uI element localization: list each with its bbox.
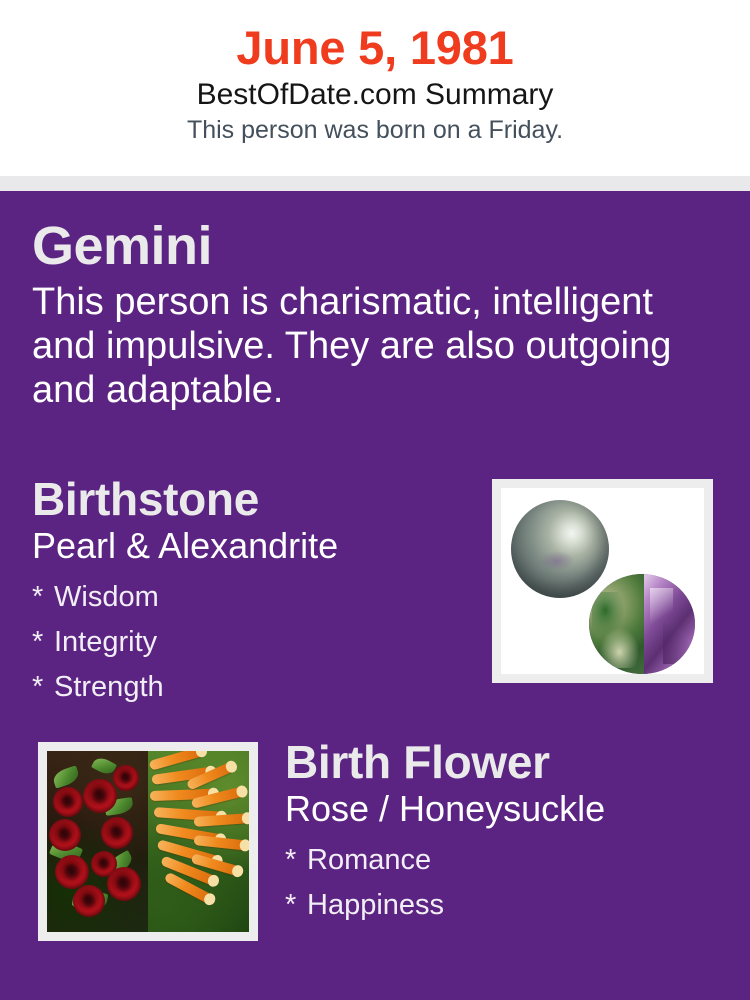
alexandrite-green-half (589, 574, 644, 674)
birth-flower-section: Birth Flower Rose / Honeysuckle *Romance… (285, 739, 725, 928)
alexandrite-gem-icon (589, 574, 695, 674)
bullet-asterisk-icon: * (285, 883, 307, 928)
bullet-asterisk-icon: * (32, 620, 54, 665)
honeysuckle-bloom-icon (193, 835, 248, 851)
list-item: *Strength (32, 665, 472, 710)
birth-weekday-note: This person was born on a Friday. (0, 112, 750, 145)
birth-flower-heading: Birth Flower (285, 739, 725, 787)
details-panel: Gemini This person is charismatic, intel… (0, 191, 750, 1000)
alexandrite-purple-half (644, 574, 695, 674)
summary-card: June 5, 1981 BestOfDate.com Summary This… (0, 0, 750, 1000)
rose-icon (83, 779, 117, 813)
rose-icon (49, 819, 81, 851)
birthstone-image (501, 488, 704, 674)
zodiac-sign-name: Gemini (32, 218, 712, 274)
list-item: *Romance (285, 838, 725, 883)
roses-photo-half (47, 751, 148, 932)
trait-label: Integrity (54, 626, 157, 658)
trait-label: Romance (307, 844, 431, 876)
rose-icon (53, 787, 83, 817)
birth-flower-value: Rose / Honeysuckle (285, 787, 725, 829)
trait-label: Wisdom (54, 581, 159, 613)
birthstone-section: Birthstone Pearl & Alexandrite *Wisdom *… (32, 476, 472, 710)
birthstone-value: Pearl & Alexandrite (32, 524, 472, 566)
header-divider (0, 176, 750, 191)
rose-icon (73, 885, 105, 917)
page-title: June 5, 1981 (0, 0, 750, 73)
bullet-asterisk-icon: * (32, 575, 54, 620)
rose-icon (101, 817, 133, 849)
list-item: *Wisdom (32, 575, 472, 620)
rose-icon (113, 765, 139, 791)
birth-flower-image-frame (38, 742, 258, 941)
honeysuckle-photo-half (148, 751, 249, 932)
list-item: *Integrity (32, 620, 472, 665)
bullet-asterisk-icon: * (285, 838, 307, 883)
site-summary-label: BestOfDate.com Summary (0, 73, 750, 112)
trait-label: Happiness (307, 889, 444, 921)
trait-label: Strength (54, 671, 164, 703)
zodiac-description: This person is charismatic, intelligent … (32, 274, 712, 412)
birthstone-image-frame (492, 479, 713, 683)
leaf-icon (51, 765, 81, 788)
birthstone-heading: Birthstone (32, 476, 472, 524)
birth-flower-image (47, 751, 249, 932)
rose-icon (107, 867, 141, 901)
rose-icon (55, 855, 89, 889)
birth-flower-trait-list: *Romance *Happiness (285, 828, 725, 928)
list-item: *Happiness (285, 883, 725, 928)
zodiac-section: Gemini This person is charismatic, intel… (32, 218, 712, 412)
birthstone-trait-list: *Wisdom *Integrity *Strength (32, 565, 472, 710)
card-header: June 5, 1981 BestOfDate.com Summary This… (0, 0, 750, 176)
bullet-asterisk-icon: * (32, 665, 54, 710)
